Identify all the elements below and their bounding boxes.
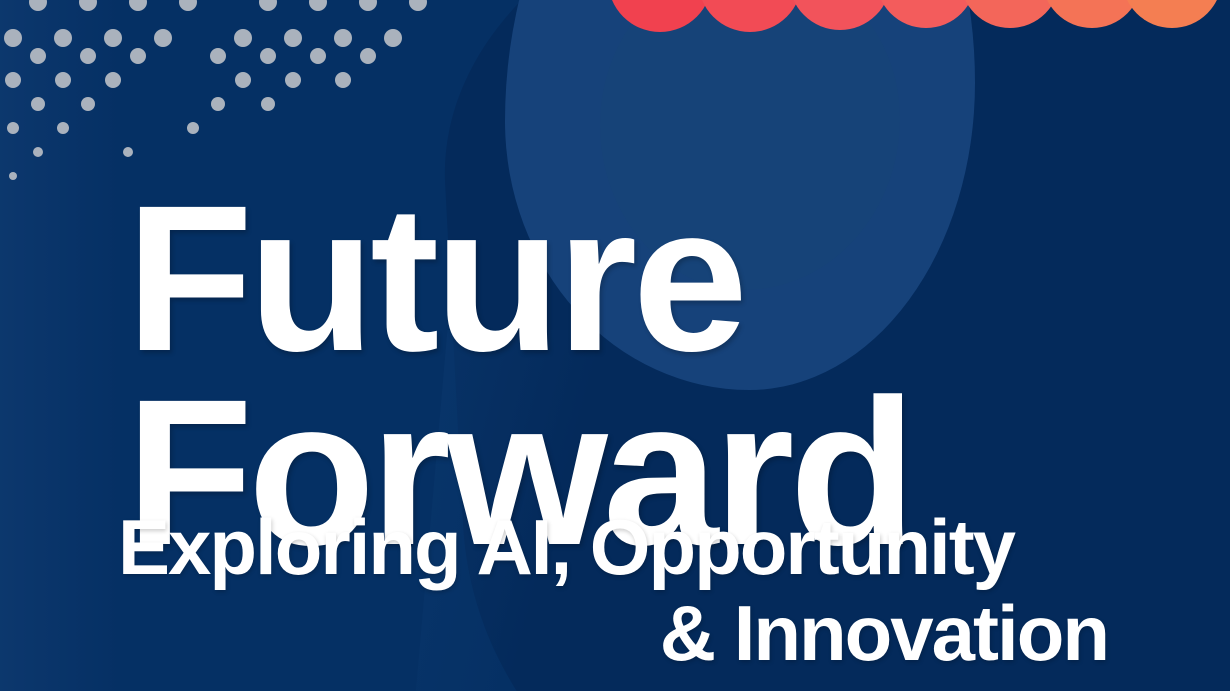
decor-dot — [154, 29, 172, 47]
decor-dot — [29, 0, 47, 11]
decor-dot — [31, 97, 45, 111]
decor-dot — [335, 72, 351, 88]
decor-dot — [179, 0, 197, 11]
decor-dot — [211, 97, 225, 111]
coral-circle — [1042, 0, 1142, 28]
decor-dot — [5, 72, 21, 88]
decor-dot — [260, 48, 276, 64]
coral-circle — [789, 0, 891, 30]
promo-banner: Future Forward Exploring AI, Opportunity… — [0, 0, 1230, 691]
decor-dot — [384, 29, 402, 47]
decor-dot — [261, 97, 275, 111]
decor-dot — [259, 0, 277, 11]
decor-dot — [359, 0, 377, 11]
decor-dot — [234, 29, 252, 47]
decor-dot — [33, 147, 43, 157]
decor-dot — [4, 29, 22, 47]
coral-circle — [876, 0, 976, 28]
decor-dot — [105, 72, 121, 88]
coral-circle — [608, 0, 712, 32]
decor-dot — [81, 97, 95, 111]
decor-dot — [80, 48, 96, 64]
decor-dot — [129, 0, 147, 11]
decor-dot — [79, 0, 97, 11]
decor-dot — [57, 122, 69, 134]
decor-dot — [284, 29, 302, 47]
decor-dot — [310, 48, 326, 64]
decor-dot — [285, 72, 301, 88]
decor-dot — [360, 48, 376, 64]
decor-dot — [104, 29, 122, 47]
page-subtitle: Exploring AI, Opportunity & Innovation — [118, 505, 1108, 677]
decor-dot — [187, 122, 199, 134]
headline-line-1: Future — [126, 183, 1176, 376]
decor-dot — [409, 0, 427, 11]
coral-circle — [960, 0, 1060, 28]
decor-dot — [130, 48, 146, 64]
decor-dot — [54, 29, 72, 47]
decor-dot — [55, 72, 71, 88]
decor-dot — [235, 72, 251, 88]
coral-circle — [698, 0, 802, 32]
decor-dot — [123, 147, 133, 157]
decor-dot — [30, 48, 46, 64]
decor-dot — [309, 0, 327, 11]
coral-circle-row — [600, 0, 1160, 48]
decor-dot — [334, 29, 352, 47]
decor-dot — [210, 48, 226, 64]
decor-dot — [7, 122, 19, 134]
subtitle-line-1: Exploring AI, Opportunity — [118, 505, 1108, 591]
subtitle-line-2: & Innovation — [118, 591, 1108, 677]
decor-dot — [9, 172, 17, 180]
